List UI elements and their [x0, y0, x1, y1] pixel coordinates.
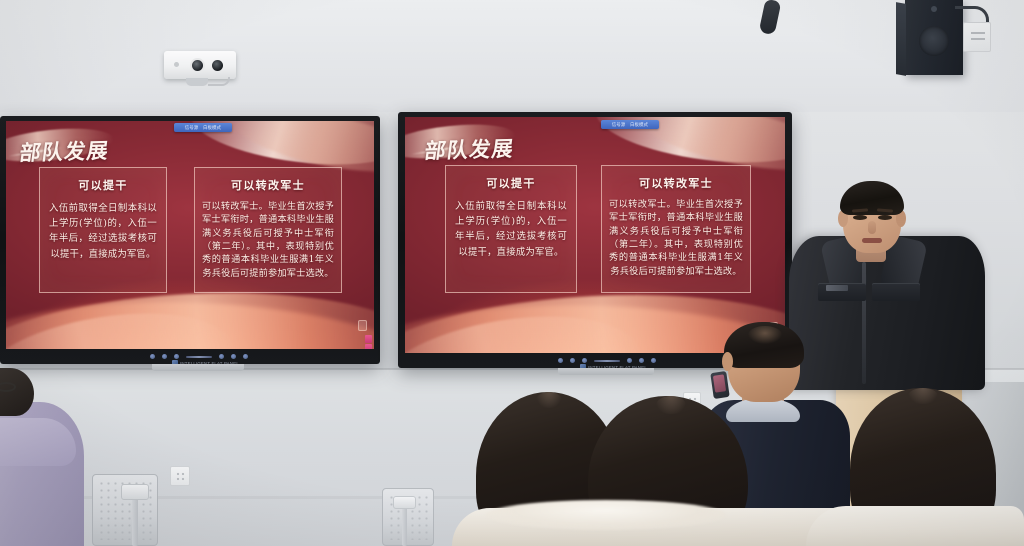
audience-member-left-lavender-shoulder [0, 418, 76, 466]
mic-stand-center-head [393, 496, 416, 509]
slide-title: 部队发展 [18, 135, 111, 167]
audience-member-1-hair-part [536, 392, 562, 408]
speaker-tweeter-icon [931, 6, 937, 12]
bezel-button-icon[interactable] [570, 358, 575, 363]
display-status-badge[interactable]: 信号源 白板模式 [601, 120, 659, 129]
bezel-button-icon[interactable] [231, 354, 236, 359]
slide-title: 部队发展 [423, 133, 516, 165]
audience-member-3-hair-part [908, 388, 938, 404]
bezel-button-icon[interactable] [162, 354, 167, 359]
slide-canvas-left: 部队发展 信号源 白板模式 可以提干 入伍前取得全日制本科以上学历(学位)的，入… [6, 121, 374, 349]
lecture-room: 部队发展 信号源 白板模式 可以提干 入伍前取得全日制本科以上学历(学位)的，入… [0, 0, 1024, 546]
wall-upper [0, 0, 1024, 112]
content-box-2-body: 可以转改军士。毕业生首次授予军士军衔时，普通本科毕业生服满义务兵役后可授予中士军… [609, 198, 743, 278]
content-box-1: 可以提干 入伍前取得全日制本科以上学历(学位)的，入伍一年半后，经过选拔考核可以… [445, 165, 577, 293]
presenter-hair [840, 181, 904, 215]
status-badge-source: 信号源 [185, 124, 199, 130]
bezel-button-icon[interactable] [627, 358, 632, 363]
bezel-button-icon[interactable] [639, 358, 644, 363]
wall-plate-slot [971, 32, 985, 34]
content-box-1-heading: 可以提干 [40, 177, 166, 193]
presenter-eye-right [878, 215, 892, 220]
audience-white-coat-right [806, 506, 1024, 546]
bezel-button-icon[interactable] [174, 354, 179, 359]
bezel-button-icon[interactable] [150, 354, 155, 359]
presenter-mouth [862, 238, 882, 243]
projector-icon [164, 51, 236, 79]
presenter-pocket-right [872, 283, 920, 301]
status-badge-mode: 白板模式 [630, 121, 648, 127]
bezel-button-icon[interactable] [651, 358, 656, 363]
wall-plate-slot [971, 38, 985, 40]
bezel-button-icon[interactable] [243, 354, 248, 359]
display-right-screen[interactable]: 部队发展 信号源 白板模式 可以提干 入伍前取得全日制本科以上学历(学位)的，入… [405, 117, 785, 353]
content-box-2-body: 可以转改军士。毕业生首次授予军士军衔时，普通本科毕业生服满义务兵役后可授予中士军… [202, 200, 334, 280]
presenter-eye-left [853, 215, 867, 220]
content-box-2-heading: 可以转改军士 [602, 175, 750, 191]
projector-mount [186, 78, 208, 86]
audience-white-fur-collar [486, 500, 726, 530]
content-box-2: 可以转改军士 可以转改军士。毕业生首次授予军士军衔时，普通本科毕业生服满义务兵役… [194, 167, 342, 293]
status-badge-mode: 白板模式 [203, 124, 221, 130]
display-right-stand [558, 368, 654, 375]
display-left[interactable]: 部队发展 信号源 白板模式 可以提干 入伍前取得全日制本科以上学历(学位)的，入… [0, 116, 380, 364]
content-box-1: 可以提干 入伍前取得全日制本科以上学历(学位)的，入伍一年半后，经过选拔考核可以… [39, 167, 167, 293]
display-left-bezel-controls[interactable] [150, 354, 248, 359]
bezel-slider[interactable] [186, 356, 212, 358]
wall-outlet-left [170, 466, 190, 486]
content-box-1-body: 入伍前取得全日制本科以上学历(学位)的，入伍一年半后，经过选拔考核可以提干，直接… [49, 201, 157, 262]
phone-screen [713, 374, 726, 392]
display-left-screen[interactable]: 部队发展 信号源 白板模式 可以提干 入伍前取得全日制本科以上学历(学位)的，入… [6, 121, 374, 349]
audience-member-suit-ear [722, 352, 733, 371]
audience-member-suit-hair-highlight [748, 326, 782, 344]
presenter-jacket-zipper [862, 262, 866, 384]
display-right[interactable]: 部队发展 信号源 白板模式 可以提干 入伍前取得全日制本科以上学历(学位)的，入… [398, 112, 792, 368]
audience-member-2-hair-part [656, 396, 686, 414]
status-badge-source: 信号源 [612, 121, 626, 127]
outlet-socket-icon [176, 472, 185, 481]
projector-sensor-icon [174, 62, 179, 67]
presenter-name-badge [826, 285, 848, 291]
wall-plate [963, 22, 991, 52]
content-box-2-heading: 可以转改军士 [195, 177, 341, 193]
display-status-badge[interactable]: 信号源 白板模式 [174, 123, 232, 132]
content-box-2: 可以转改军士 可以转改军士。毕业生首次授予军士军衔时，普通本科毕业生服满义务兵役… [601, 165, 751, 293]
display-right-bezel-controls[interactable] [558, 358, 656, 363]
projector-lens-icon [190, 58, 205, 73]
projector-secondary-lens-icon [212, 60, 223, 71]
toolbar-chip-icon[interactable] [365, 335, 372, 343]
toolbar-chip-icon[interactable] [365, 344, 372, 349]
bezel-button-icon[interactable] [219, 354, 224, 359]
bezel-button-icon[interactable] [582, 358, 587, 363]
presenter-nose [868, 221, 876, 234]
bezel-button-icon[interactable] [558, 358, 563, 363]
speaker-cone-icon [919, 26, 949, 56]
mic-stand-left-head [121, 484, 149, 500]
bezel-slider[interactable] [594, 360, 620, 362]
display-left-stand [152, 364, 244, 371]
slide-page-indicator[interactable] [358, 320, 367, 331]
content-box-1-heading: 可以提干 [446, 175, 576, 191]
content-box-1-body: 入伍前取得全日制本科以上学历(学位)的，入伍一年半后，经过选拔考核可以提干，直接… [455, 199, 567, 260]
speaker-side-panel [896, 2, 906, 76]
slide-canvas-right: 部队发展 信号源 白板模式 可以提干 入伍前取得全日制本科以上学历(学位)的，入… [405, 117, 785, 353]
